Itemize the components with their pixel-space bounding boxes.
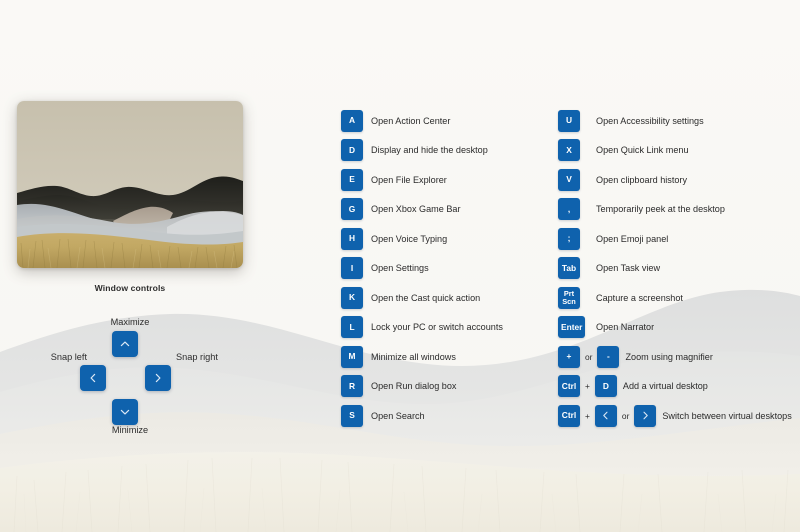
shortcut-row: EnterOpen Narrator [558,313,792,343]
key-joiner: or [580,352,597,362]
key-[interactable]: + [558,346,580,368]
window-controls-title: Window controls [0,283,260,293]
key-a[interactable]: A [341,110,363,132]
shortcut-description: Add a virtual desktop [623,381,708,391]
key-x[interactable]: X [558,139,580,161]
key-label: V [566,175,572,184]
shortcut-keys: G [341,198,363,220]
shortcut-description: Open Run dialog box [371,381,456,391]
shortcut-keys: , [558,198,580,220]
chevron-down-icon [119,406,131,418]
shortcut-description: Open Xbox Game Bar [371,204,460,214]
shortcut-description: Switch between virtual desktops [662,411,791,421]
shortcut-description: Minimize all windows [371,352,456,362]
shortcut-keys: Tab [558,257,580,279]
key-label: M [349,352,356,361]
shortcut-row: UOpen Accessibility settings [558,106,792,136]
shortcut-row: DDisplay and hide the desktop [341,136,503,166]
shortcut-row: EOpen File Explorer [341,165,503,195]
key-ctrl[interactable]: Ctrl [558,375,580,397]
shortcut-keys: Enter [558,316,585,338]
key-label: D [349,146,355,155]
shortcut-row: TabOpen Task view [558,254,792,284]
shortcut-row: XOpen Quick Link menu [558,136,792,166]
key-joiner: + [580,381,595,391]
key-s[interactable]: S [341,405,363,427]
shortcut-keys: R [341,375,363,397]
key-label: D [603,382,609,391]
shortcut-keys: A [341,110,363,132]
shortcut-row: AOpen Action Center [341,106,503,136]
key-joiner: or [617,411,634,421]
key-g[interactable]: G [341,198,363,220]
shortcut-row: VOpen clipboard history [558,165,792,195]
shortcut-row: ;Open Emoji panel [558,224,792,254]
snap-right-button[interactable] [145,365,171,391]
key-label: A [349,116,355,125]
key-tab[interactable]: Tab [558,257,580,279]
shortcut-row: PrtScnCapture a screenshot [558,283,792,313]
key-l[interactable]: L [341,316,363,338]
shortcut-row: Ctrl+DAdd a virtual desktop [558,372,792,402]
chevron-right-icon [640,410,651,421]
key-k[interactable]: K [341,287,363,309]
key-label: S [349,411,355,420]
shortcut-row: IOpen Settings [341,254,503,284]
key-ctrl[interactable]: Ctrl [558,405,580,427]
chevron-left-icon [87,372,99,384]
key-chevron-left-icon[interactable] [595,405,617,427]
shortcut-keys: U [558,110,580,132]
shortcut-keys: D [341,139,363,161]
shortcut-description: Capture a screenshot [596,293,683,303]
shortcut-description: Open Search [371,411,425,421]
shortcut-keys: Ctrl+D [558,375,617,397]
shortcut-description: Open Emoji panel [596,234,668,244]
key-label: + [567,352,572,361]
key-r[interactable]: R [341,375,363,397]
snap-right-label: Snap right [176,352,218,362]
key-label: Tab [562,264,576,273]
key-label: Enter [561,323,582,332]
shortcut-row: MMinimize all windows [341,342,503,372]
shortcut-keys: +or- [558,346,619,368]
shortcut-description: Open Action Center [371,116,450,126]
desktop-wallpaper-preview[interactable] [17,101,243,268]
shortcut-row: +or-Zoom using magnifier [558,342,792,372]
key-d[interactable]: D [341,139,363,161]
shortcut-keys: Ctrl+or [558,405,656,427]
key-label: K [349,293,355,302]
shortcut-keys: V [558,169,580,191]
shortcuts-column-left: AOpen Action CenterDDisplay and hide the… [341,106,503,431]
shortcut-description: Open Narrator [596,322,654,332]
shortcut-description: Open File Explorer [371,175,447,185]
chevron-left-icon [600,410,611,421]
shortcut-row: ,Temporarily peek at the desktop [558,195,792,225]
key-label: Ctrl [562,382,576,391]
shortcut-description: Open Voice Typing [371,234,447,244]
shortcut-description: Open the Cast quick action [371,293,480,303]
key-[interactable]: , [558,198,580,220]
key-label: Ctrl [562,411,576,420]
shortcut-keys: S [341,405,363,427]
key-u[interactable]: U [558,110,580,132]
shortcut-keys: M [341,346,363,368]
shortcut-keys: H [341,228,363,250]
shortcut-keys: I [341,257,363,279]
key-label: , [568,205,570,214]
shortcut-keys: ; [558,228,580,250]
key-label: R [349,382,355,391]
key-enter[interactable]: Enter [558,316,585,338]
key-label: H [349,234,355,243]
key-[interactable]: ; [558,228,580,250]
shortcuts-column-right: UOpen Accessibility settingsXOpen Quick … [558,106,792,431]
shortcut-description: Open clipboard history [596,175,687,185]
shortcut-row: LLock your PC or switch accounts [341,313,503,343]
key-label: E [349,175,355,184]
shortcut-row: HOpen Voice Typing [341,224,503,254]
key-h[interactable]: H [341,228,363,250]
key-m[interactable]: M [341,346,363,368]
shortcut-description: Open Quick Link menu [596,145,689,155]
shortcut-keys: E [341,169,363,191]
shortcut-row: SOpen Search [341,401,503,431]
key-i[interactable]: I [341,257,363,279]
key-label-line2: Scn [562,298,576,305]
key-joiner: + [580,411,595,421]
chevron-right-icon [152,372,164,384]
maximize-label: Maximize [0,317,260,327]
shortcut-row: Ctrl+orSwitch between virtual desktops [558,401,792,431]
key-label: X [566,146,572,155]
shortcut-row: ROpen Run dialog box [341,372,503,402]
key-prtscn[interactable]: PrtScn [558,287,580,309]
shortcut-keys: L [341,316,363,338]
key-d[interactable]: D [595,375,617,397]
shortcut-row: KOpen the Cast quick action [341,283,503,313]
shortcut-keys: K [341,287,363,309]
key-label: ; [568,234,571,243]
snap-left-label: Snap left [43,352,87,362]
key-v[interactable]: V [558,169,580,191]
maximize-button[interactable] [112,331,138,357]
shortcut-keys: PrtScn [558,287,580,309]
shortcut-description: Open Task view [596,263,660,273]
key-label: G [349,205,356,214]
key-label: U [566,116,572,125]
minimize-label: Minimize [0,425,260,435]
shortcut-description: Zoom using magnifier [625,352,712,362]
snap-left-button[interactable] [80,365,106,391]
shortcut-description: Lock your PC or switch accounts [371,322,503,332]
key-e[interactable]: E [341,169,363,191]
key-label: I [351,264,353,273]
shortcut-description: Open Accessibility settings [596,116,704,126]
shortcut-row: GOpen Xbox Game Bar [341,195,503,225]
shortcut-description: Display and hide the desktop [371,145,488,155]
chevron-up-icon [119,338,131,350]
shortcut-description: Temporarily peek at the desktop [596,204,725,214]
key-label: L [349,323,354,332]
minimize-button[interactable] [112,399,138,425]
key-label: - [607,352,610,361]
key-[interactable]: - [597,346,619,368]
window-controls-diagram: Window controls Maximize Minimize Snap l… [0,283,260,443]
shortcut-keys: X [558,139,580,161]
shortcut-description: Open Settings [371,263,429,273]
key-chevron-right-icon[interactable] [634,405,656,427]
